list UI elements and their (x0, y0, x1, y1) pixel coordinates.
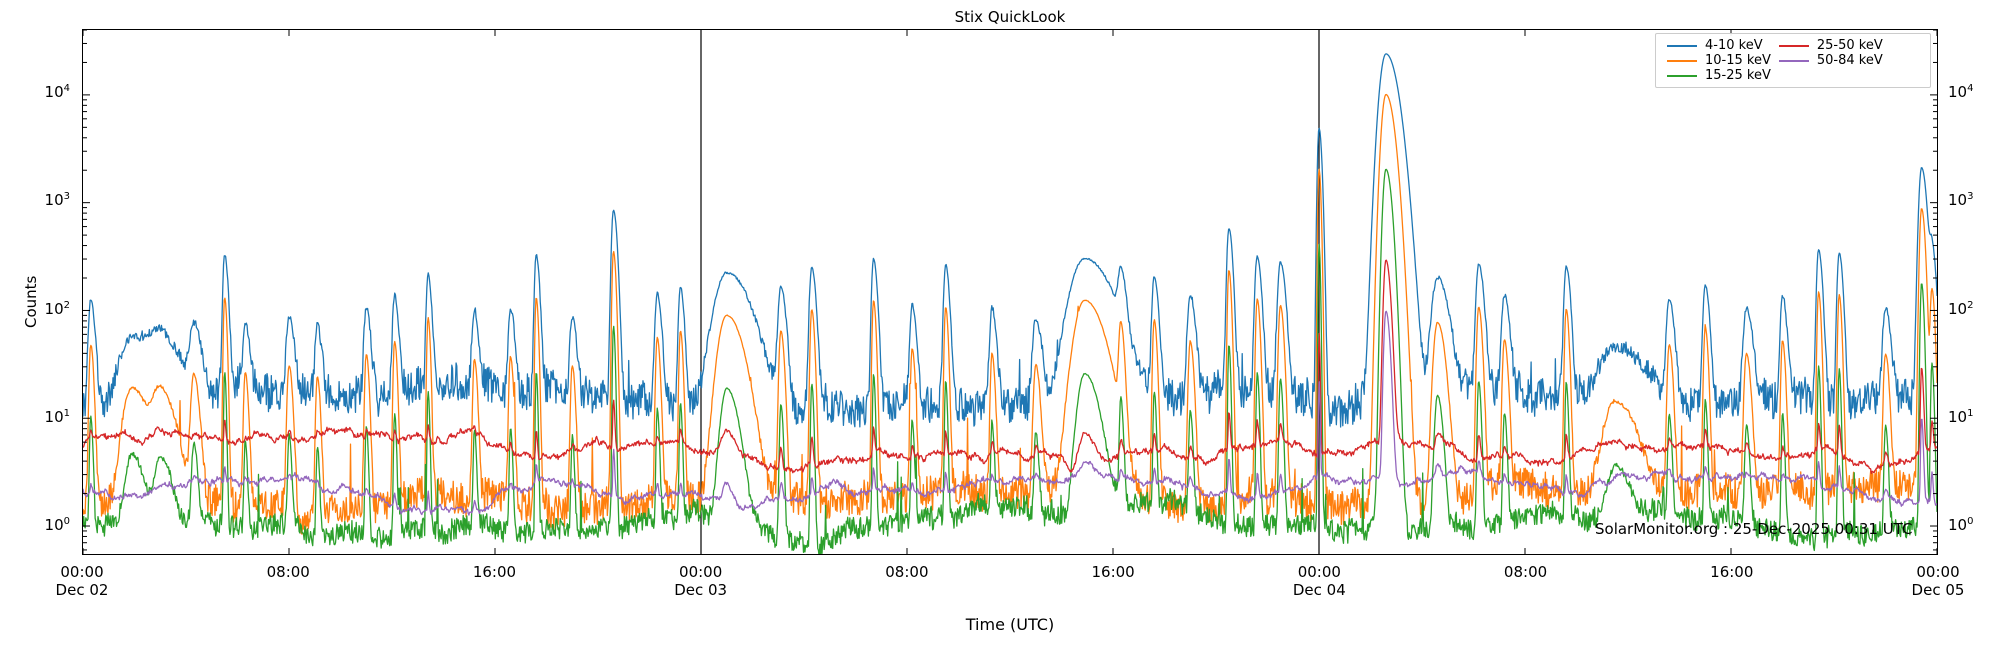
x-tick-label-5: 16:00 (1091, 563, 1134, 581)
x-tick-label-2: 16:00 (473, 563, 516, 581)
watermark-credit: SolarMonitor.org : 25-Dec-2025 00:31 UTC (1595, 520, 1912, 538)
legend[interactable]: 4-10 keV25-50 keV10-15 keV50-84 keV15-25… (1655, 33, 1931, 88)
x-tick-label-3: 00:00Dec 03 (674, 563, 727, 599)
legend-swatch-1 (1663, 53, 1701, 68)
y-tick-label-right-4: 104 (1948, 83, 1973, 101)
y-tick-label-left-2: 102 (0, 300, 70, 318)
x-tick-label-6: 00:00Dec 04 (1293, 563, 1346, 599)
legend-line-icon (1667, 60, 1697, 62)
x-tick-time: 08:00 (267, 563, 310, 581)
plot-area (82, 29, 1938, 555)
x-tick-time: 00:00 (56, 563, 109, 581)
x-tick-label-1: 08:00 (267, 563, 310, 581)
time-series-canvas (83, 30, 1937, 554)
x-tick-time: 00:00 (1912, 563, 1965, 581)
legend-swatch-2 (1663, 68, 1701, 83)
legend-swatch-0 (1663, 38, 1701, 53)
x-tick-date: Dec 05 (1912, 581, 1965, 599)
chart-title: Stix QuickLook (82, 8, 1938, 26)
y-tick-label-right-3: 103 (1948, 191, 1973, 209)
x-tick-label-7: 08:00 (1504, 563, 1547, 581)
x-tick-label-4: 08:00 (885, 563, 928, 581)
x-tick-time: 16:00 (1710, 563, 1753, 581)
y-tick-label-left-0: 100 (0, 516, 70, 534)
legend-empty (1813, 68, 1887, 83)
legend-swatch-4 (1775, 53, 1813, 68)
series-line-10-15-kev (83, 95, 1937, 535)
x-tick-label-9: 00:00Dec 05 (1912, 563, 1965, 599)
y-tick-label-left-1: 101 (0, 408, 70, 426)
x-axis-label: Time (UTC) (966, 615, 1054, 634)
y-tick-label-right-1: 101 (1948, 408, 1973, 426)
legend-label-2: 15-25 keV (1701, 68, 1775, 83)
legend-line-icon (1779, 60, 1809, 62)
x-tick-date: Dec 02 (56, 581, 109, 599)
y-tick-label-left-3: 103 (0, 191, 70, 209)
x-tick-label-0: 00:00Dec 02 (56, 563, 109, 599)
y-tick-label-right-2: 102 (1948, 300, 1973, 318)
legend-label-0: 4-10 keV (1701, 38, 1775, 53)
legend-row: 10-15 keV50-84 keV (1663, 53, 1887, 68)
stix-quicklook-figure: Stix QuickLook Counts 100101102103104 10… (0, 0, 2000, 650)
x-tick-time: 00:00 (674, 563, 727, 581)
series-line-25-50-kev (83, 260, 1937, 473)
legend-row: 15-25 keV (1663, 68, 1887, 83)
y-tick-label-left-4: 104 (0, 83, 70, 101)
x-tick-time: 08:00 (1504, 563, 1547, 581)
legend-swatch-3 (1775, 38, 1813, 53)
x-tick-time: 00:00 (1293, 563, 1346, 581)
x-tick-time: 16:00 (1091, 563, 1134, 581)
legend-empty (1775, 68, 1813, 83)
x-tick-time: 08:00 (885, 563, 928, 581)
legend-label-3: 25-50 keV (1813, 38, 1887, 53)
legend-line-icon (1779, 45, 1809, 47)
y-tick-label-right-0: 100 (1948, 516, 1973, 534)
legend-label-4: 50-84 keV (1813, 53, 1887, 68)
x-tick-label-8: 16:00 (1710, 563, 1753, 581)
legend-line-icon (1667, 45, 1697, 47)
legend-label-1: 10-15 keV (1701, 53, 1775, 68)
legend-table: 4-10 keV25-50 keV10-15 keV50-84 keV15-25… (1663, 38, 1887, 83)
x-tick-time: 16:00 (473, 563, 516, 581)
x-tick-date: Dec 03 (674, 581, 727, 599)
x-tick-date: Dec 04 (1293, 581, 1346, 599)
series-line-4-10-kev (83, 54, 1937, 427)
legend-line-icon (1667, 75, 1697, 77)
legend-row: 4-10 keV25-50 keV (1663, 38, 1887, 53)
